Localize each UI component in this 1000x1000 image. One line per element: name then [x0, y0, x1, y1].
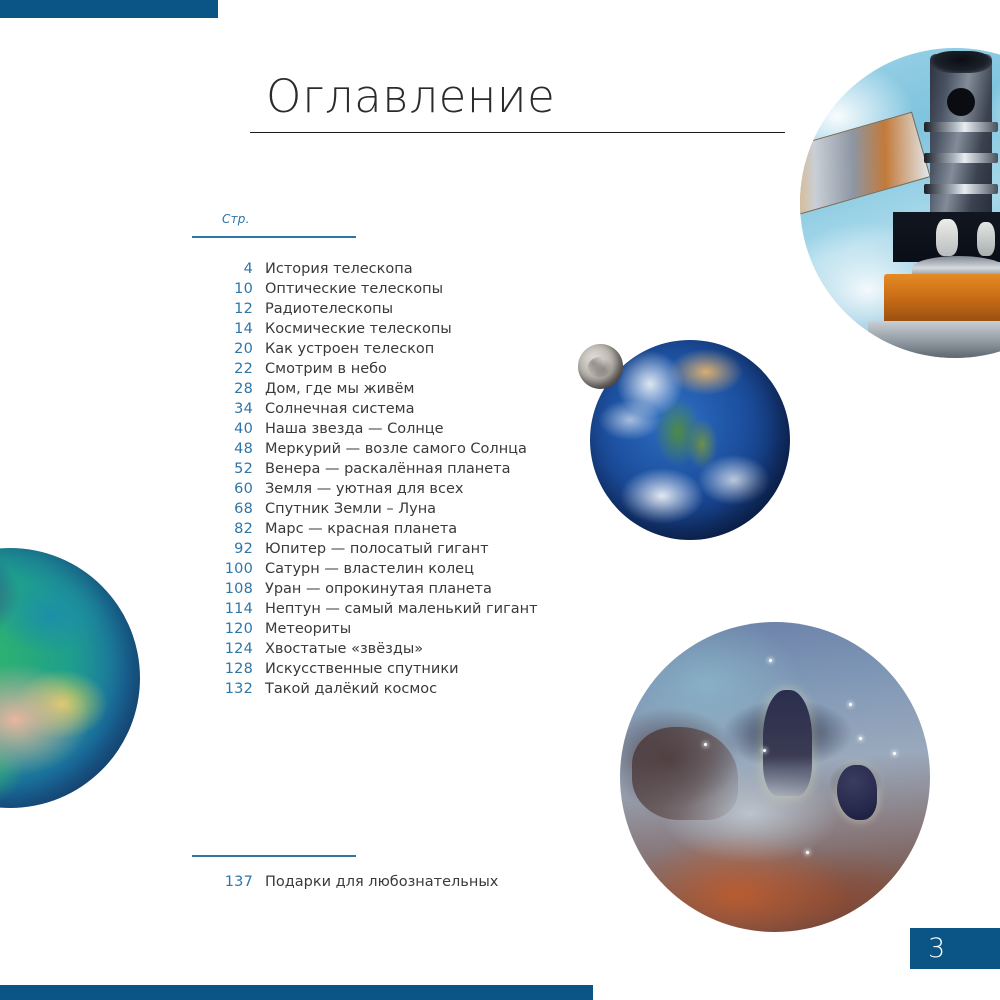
hubble-docking-base — [868, 321, 1000, 358]
toc-page-number: 100 — [192, 559, 253, 579]
toc-entry-title: Искусственные спутники — [253, 659, 459, 679]
toc-entry-row[interactable]: 10Оптические телескопы — [192, 279, 612, 299]
toc-entry-title: История телескопа — [253, 259, 413, 279]
toc-page-number: 60 — [192, 479, 253, 499]
decorative-bottom-bar — [0, 985, 593, 1000]
table-of-contents-appendix: 137Подарки для любознательных — [192, 872, 612, 892]
toc-entry-row[interactable]: 52Венера — раскалённая планета — [192, 459, 612, 479]
page-title: Оглавление — [266, 70, 555, 123]
toc-page-number: 132 — [192, 679, 253, 699]
toc-entry-title: Юпитер — полосатый гигант — [253, 539, 489, 559]
toc-entry-row[interactable]: 4История телескопа — [192, 259, 612, 279]
toc-entry-row[interactable]: 40Наша звезда — Солнце — [192, 419, 612, 439]
toc-page-number: 82 — [192, 519, 253, 539]
hubble-aperture-door — [930, 51, 992, 73]
astronaut-figure — [936, 219, 958, 256]
toc-entry-row[interactable]: 108Уран — опрокинутая планета — [192, 579, 612, 599]
toc-entry-title: Марс — красная планета — [253, 519, 457, 539]
toc-page-number: 52 — [192, 459, 253, 479]
star-point — [763, 749, 766, 752]
toc-page-number: 68 — [192, 499, 253, 519]
star-point — [893, 752, 896, 755]
toc-entry-title: Наша звезда — Солнце — [253, 419, 444, 439]
astronaut-figure — [977, 222, 996, 256]
hubble-body-ring — [924, 122, 998, 132]
toc-page-number: 48 — [192, 439, 253, 459]
toc-page-number: 124 — [192, 639, 253, 659]
toc-entry-row[interactable]: 120Метеориты — [192, 619, 612, 639]
toc-entry-row[interactable]: 124Хвостатые «звёзды» — [192, 639, 612, 659]
nebula-dust-ridge — [632, 727, 737, 820]
star-point — [769, 659, 772, 662]
toc-entry-row[interactable]: 60Земля — уютная для всех — [192, 479, 612, 499]
toc-entry-title: Подарки для любознательных — [253, 872, 498, 892]
toc-entry-title: Меркурий — возле самого Солнца — [253, 439, 527, 459]
hubble-body-ring — [924, 184, 998, 194]
toc-entry-title: Хвостатые «звёзды» — [253, 639, 423, 659]
nebula-photo — [620, 622, 930, 932]
toc-page-number: 128 — [192, 659, 253, 679]
toc-entry-row[interactable]: 20Как устроен телескоп — [192, 339, 612, 359]
toc-page-number: 114 — [192, 599, 253, 619]
hubble-solar-panel-left — [800, 111, 931, 214]
page-column-label: Стр. — [222, 212, 250, 226]
star-point — [704, 743, 707, 746]
toc-page-number: 120 — [192, 619, 253, 639]
column-label-divider — [192, 236, 356, 238]
toc-entry-row[interactable]: 22Смотрим в небо — [192, 359, 612, 379]
toc-entry-row[interactable]: 92Юпитер — полосатый гигант — [192, 539, 612, 559]
star-point — [806, 851, 809, 854]
toc-page-number: 20 — [192, 339, 253, 359]
star-point — [849, 703, 852, 706]
toc-page-number: 137 — [192, 872, 253, 892]
page-root: Оглавление Стр. 4История телескопа10Опти… — [0, 0, 1000, 1000]
toc-entry-title: Нептун — самый маленький гигант — [253, 599, 538, 619]
title-divider — [250, 132, 785, 133]
toc-entry-title: Солнечная система — [253, 399, 415, 419]
toc-entry-title: Земля — уютная для всех — [253, 479, 463, 499]
toc-entry-row[interactable]: 68Спутник Земли – Луна — [192, 499, 612, 519]
toc-entry-row[interactable]: 100Сатурн — властелин колец — [192, 559, 612, 579]
toc-entry-title: Радиотелескопы — [253, 299, 393, 319]
toc-appendix-row[interactable]: 137Подарки для любознательных — [192, 872, 612, 892]
toc-entry-title: Венера — раскалённая планета — [253, 459, 511, 479]
hubble-body-ring — [924, 153, 998, 163]
toc-page-number: 40 — [192, 419, 253, 439]
toc-entry-title: Смотрим в небо — [253, 359, 387, 379]
toc-entry-row[interactable]: 128Искусственные спутники — [192, 659, 612, 679]
star-point — [859, 737, 862, 740]
toc-entry-title: Спутник Земли – Луна — [253, 499, 436, 519]
toc-entry-title: Сатурн — властелин колец — [253, 559, 474, 579]
toc-page-number: 92 — [192, 539, 253, 559]
toc-page-number: 108 — [192, 579, 253, 599]
toc-entry-row[interactable]: 48Меркурий — возле самого Солнца — [192, 439, 612, 459]
toc-entry-row[interactable]: 14Космические телескопы — [192, 319, 612, 339]
toc-page-number: 22 — [192, 359, 253, 379]
nebula-dark-globule — [837, 765, 877, 821]
toc-page-number: 10 — [192, 279, 253, 299]
hubble-space-telescope-photo — [800, 48, 1000, 358]
toc-entry-row[interactable]: 132Такой далёкий космос — [192, 679, 612, 699]
venus-radar-globe-photo — [0, 548, 140, 808]
toc-entry-title: Такой далёкий космос — [253, 679, 437, 699]
toc-entry-row[interactable]: 12Радиотелескопы — [192, 299, 612, 319]
toc-entry-title: Оптические телескопы — [253, 279, 443, 299]
hubble-orange-base — [884, 274, 1000, 327]
toc-page-number: 28 — [192, 379, 253, 399]
toc-page-number: 34 — [192, 399, 253, 419]
toc-page-number: 12 — [192, 299, 253, 319]
toc-entry-row[interactable]: 28Дом, где мы живём — [192, 379, 612, 399]
toc-entry-title: Метеориты — [253, 619, 351, 639]
page-number-badge: 3 — [910, 928, 1000, 969]
toc-entry-row[interactable]: 114Нептун — самый маленький гигант — [192, 599, 612, 619]
toc-entry-title: Дом, где мы живём — [253, 379, 414, 399]
toc-entry-title: Как устроен телескоп — [253, 339, 434, 359]
toc-entry-row[interactable]: 82Марс — красная планета — [192, 519, 612, 539]
decorative-top-bar — [0, 0, 218, 18]
toc-entry-row[interactable]: 34Солнечная система — [192, 399, 612, 419]
toc-entry-title: Уран — опрокинутая планета — [253, 579, 492, 599]
toc-page-number: 14 — [192, 319, 253, 339]
nebula-pillar — [763, 690, 813, 795]
appendix-divider — [192, 855, 356, 857]
toc-page-number: 4 — [192, 259, 253, 279]
toc-entry-title: Космические телескопы — [253, 319, 452, 339]
table-of-contents-list: 4История телескопа10Оптические телескопы… — [192, 259, 612, 699]
